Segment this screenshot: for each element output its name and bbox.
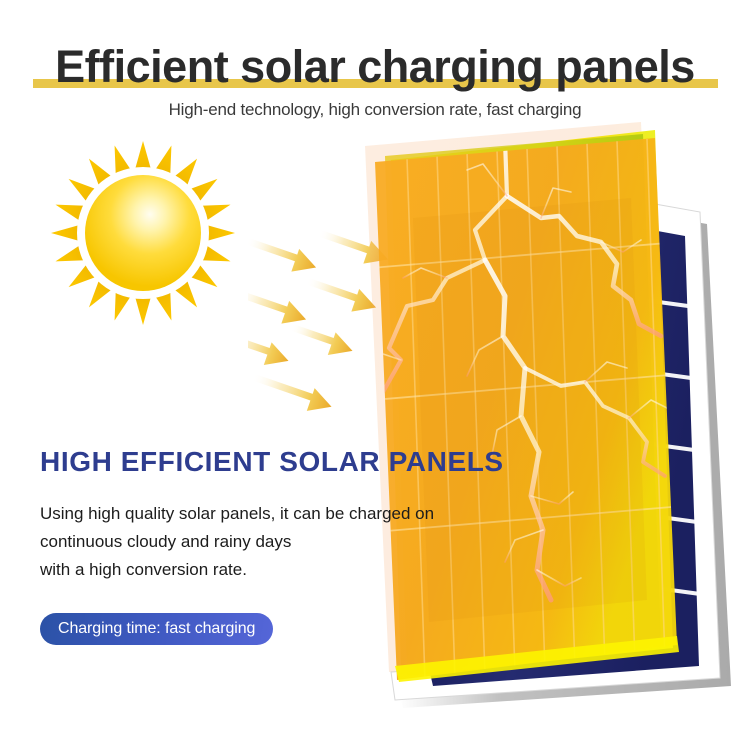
front-translucent-orange-sheet: [363, 138, 683, 680]
feature-body-line-3: with a high conversion rate.: [40, 556, 460, 584]
charging-time-badge-label: Charging time: fast charging: [58, 620, 255, 638]
charging-time-badge: Charging time: fast charging: [40, 613, 273, 645]
feature-body-line-2: continuous cloudy and rainy days: [40, 528, 460, 556]
solar-panel-stack: [355, 100, 750, 710]
poster-canvas: Efficient solar charging panels High-end…: [0, 0, 750, 750]
page-title: Efficient solar charging panels: [0, 38, 750, 96]
feature-headline: HIGH EFFICIENT SOLAR PANELS: [40, 446, 504, 478]
sun-icon: [25, 128, 265, 338]
page-title-block: Efficient solar charging panels: [0, 38, 750, 96]
feature-body-line-1: Using high quality solar panels, it can …: [40, 500, 460, 528]
feature-body: Using high quality solar panels, it can …: [40, 500, 460, 584]
